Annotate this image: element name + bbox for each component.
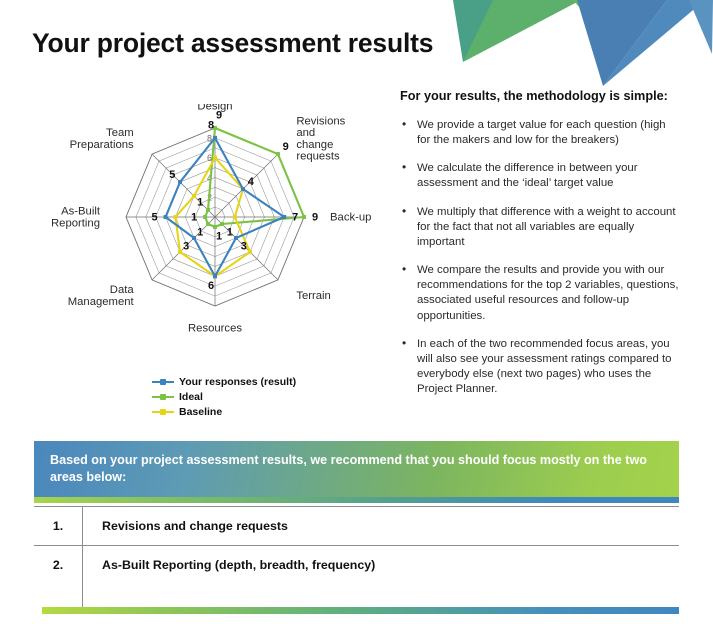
recommendation-banner-text: Based on your project assessment results… xyxy=(50,452,663,487)
methodology-bullet-text: In each of the two recommended focus are… xyxy=(417,338,672,395)
radar-axis-label: Resources xyxy=(188,323,242,335)
radar-axis-label: Preparations xyxy=(70,139,134,151)
radar-axis-label: Terrain xyxy=(296,290,331,302)
bullet-icon: • xyxy=(402,262,406,278)
radar-axis-label: Design xyxy=(197,104,232,113)
blue-triangle-mid xyxy=(577,0,667,86)
radar-axis-label: Revisions xyxy=(296,116,345,128)
radar-point xyxy=(282,215,286,219)
row-label: Revisions and change requests xyxy=(83,519,288,533)
page-title: Your project assessment results xyxy=(32,28,433,59)
methodology-bullet: •We multiply that difference with a weig… xyxy=(400,205,680,250)
radar-value-label: 3 xyxy=(183,240,189,252)
radar-point xyxy=(302,215,306,219)
radar-point xyxy=(213,225,217,229)
green-triangle-light xyxy=(573,0,649,34)
bullet-icon: • xyxy=(402,204,406,220)
methodology-bullet: •We calculate the difference in between … xyxy=(400,161,680,191)
legend-label-your-responses: Your responses (result) xyxy=(179,376,296,388)
radar-value-label: 5 xyxy=(169,169,175,181)
recommendation-banner-underline xyxy=(34,497,679,503)
radar-point xyxy=(213,136,217,140)
radar-value-label: 1 xyxy=(197,197,203,209)
recommendation-banner: Based on your project assessment results… xyxy=(34,441,679,497)
radar-point xyxy=(234,236,238,240)
methodology-bullet-text: We compare the results and provide you w… xyxy=(417,264,679,321)
methodology-bullet: •We compare the results and provide you … xyxy=(400,263,680,324)
legend-swatch-blue xyxy=(152,376,174,388)
radar-value-label: 1 xyxy=(191,212,197,224)
radar-axis-label: and xyxy=(296,127,315,139)
radar-point xyxy=(220,222,224,226)
radar-axis-label: Data xyxy=(110,284,135,296)
radar-point xyxy=(192,236,196,240)
methodology-bullet: •In each of the two recommended focus ar… xyxy=(400,337,680,398)
radar-value-label: 8 xyxy=(208,119,214,131)
legend-label-baseline: Baseline xyxy=(179,406,222,418)
radar-point xyxy=(206,208,210,212)
recommendation-table: 1. Revisions and change requests 2. As-B… xyxy=(34,506,679,584)
radar-point xyxy=(241,187,245,191)
bullet-icon: • xyxy=(402,117,406,133)
methodology-bullet-text: We calculate the difference in between y… xyxy=(417,162,638,189)
radar-axis-label: As-Built xyxy=(61,206,101,218)
legend-item-baseline: Baseline xyxy=(152,405,372,419)
teal-triangle-left xyxy=(453,0,499,62)
radar-value-label: 7 xyxy=(292,212,298,224)
radar-point xyxy=(173,215,177,219)
radar-axis-label: change xyxy=(296,139,333,151)
radar-value-label: 1 xyxy=(197,226,203,238)
radar-point xyxy=(192,194,196,198)
radar-value-label: 4 xyxy=(248,176,255,188)
radar-axis-label: Back-up xyxy=(330,212,371,224)
radar-point xyxy=(233,215,237,219)
radar-value-label: 3 xyxy=(241,240,247,252)
table-vertical-rule xyxy=(82,506,83,607)
row-label: As-Built Reporting (depth, breadth, freq… xyxy=(83,558,375,572)
radar-value-label: 5 xyxy=(151,212,157,224)
methodology-heading: For your results, the methodology is sim… xyxy=(400,88,680,105)
radar-axis-label: Team xyxy=(106,127,134,139)
methodology-section: For your results, the methodology is sim… xyxy=(400,88,680,397)
methodology-bullet-text: We provide a target value for each quest… xyxy=(417,119,666,146)
row-number: 1. xyxy=(34,519,82,533)
radar-value-label: 1 xyxy=(216,230,222,242)
table-row: 1. Revisions and change requests xyxy=(34,506,679,546)
legend-swatch-green xyxy=(152,391,174,403)
legend-item-ideal: Ideal xyxy=(152,390,372,404)
radar-axis-label: Management xyxy=(68,296,135,308)
methodology-bullet: •We provide a target value for each ques… xyxy=(400,118,680,148)
radar-point xyxy=(206,222,210,226)
radar-point xyxy=(213,156,217,160)
radar-point xyxy=(213,274,217,278)
blue-triangle-far xyxy=(689,0,713,54)
footer-gradient-bar xyxy=(42,607,679,614)
methodology-bullet-text: We multiply that difference with a weigh… xyxy=(417,206,676,248)
radar-point xyxy=(203,215,207,219)
radar-value-label: 9 xyxy=(312,212,318,224)
radar-point xyxy=(248,250,252,254)
chart-legend: Your responses (result) Ideal Baseline xyxy=(152,375,372,420)
radar-point xyxy=(276,152,280,156)
row-number: 2. xyxy=(34,558,82,572)
radar-point xyxy=(178,250,182,254)
legend-item-your-responses: Your responses (result) xyxy=(152,375,372,389)
legend-swatch-yellow xyxy=(152,406,174,418)
table-row: 2. As-Built Reporting (depth, breadth, f… xyxy=(34,546,679,584)
decorative-triangles xyxy=(453,0,713,90)
green-triangle-mid xyxy=(463,0,581,62)
bullet-icon: • xyxy=(402,336,406,352)
methodology-bullet-list: •We provide a target value for each ques… xyxy=(400,118,680,397)
bullet-icon: • xyxy=(402,160,406,176)
radar-point xyxy=(164,215,168,219)
legend-label-ideal: Ideal xyxy=(179,391,203,403)
blue-triangle-right xyxy=(603,0,705,86)
radar-axis-label: Reporting xyxy=(52,217,100,229)
radar-point xyxy=(178,180,182,184)
radar-axis-label: requests xyxy=(296,150,340,162)
radar-value-label: 1 xyxy=(227,226,233,238)
radar-value-label: 9 xyxy=(283,141,289,153)
radar-value-label: 6 xyxy=(208,280,214,292)
